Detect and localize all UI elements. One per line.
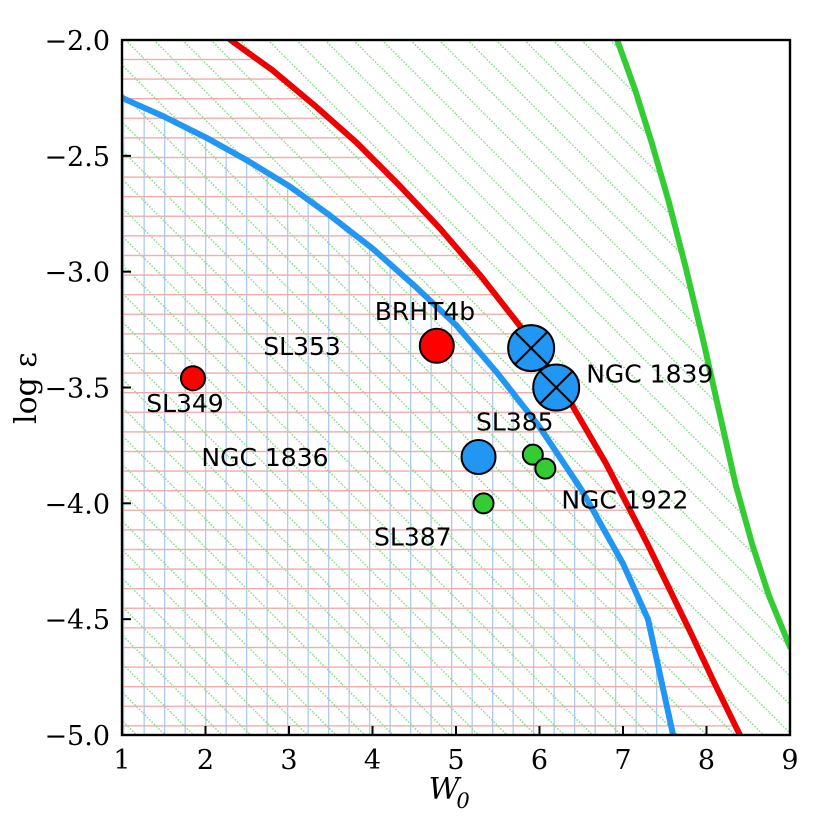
x-axis-title-subscript: 0	[456, 789, 469, 813]
figure-container: 123456789−2.0−2.5−3.0−3.5−4.0−4.5−5.0 SL…	[0, 0, 830, 830]
y-axis-title: log ε	[9, 352, 44, 424]
x-tick-label: 9	[781, 745, 798, 776]
x-axis-title: W 0	[429, 772, 470, 813]
marker-circle	[181, 366, 205, 390]
data-point-label: BRHT4b	[375, 297, 475, 326]
y-tick-label: −3.0	[44, 258, 110, 289]
scatter-plot: 123456789−2.0−2.5−3.0−3.5−4.0−4.5−5.0 SL…	[0, 0, 830, 830]
x-tick-label: 4	[364, 745, 381, 776]
data-point-label: NGC 1839	[586, 360, 713, 389]
y-tick-label: −3.5	[44, 374, 110, 405]
x-tick-label: 6	[531, 745, 548, 776]
y-tick-label: −4.5	[44, 605, 110, 636]
data-point-label: NGC 1836	[201, 443, 328, 472]
data-point-label: SL385	[476, 408, 554, 437]
marker-circle	[420, 329, 454, 363]
x-tick-label: 3	[280, 745, 297, 776]
marker-circle	[462, 440, 496, 474]
data-point-label: NGC 1922	[561, 486, 688, 515]
x-tick-label: 1	[113, 745, 130, 776]
x-tick-label: 2	[197, 745, 214, 776]
y-tick-label: −5.0	[44, 721, 110, 752]
x-tick-label: 7	[614, 745, 631, 776]
data-point-label: SL387	[374, 522, 452, 551]
x-tick-label: 8	[698, 745, 715, 776]
data-point-label: SL353	[263, 332, 341, 361]
marker-circle	[474, 493, 494, 513]
marker-circle	[535, 459, 555, 479]
data-point-label: SL349	[146, 389, 224, 418]
y-tick-label: −2.5	[44, 142, 110, 173]
y-tick-label: −2.0	[44, 26, 110, 57]
y-tick-label: −4.0	[44, 489, 110, 520]
